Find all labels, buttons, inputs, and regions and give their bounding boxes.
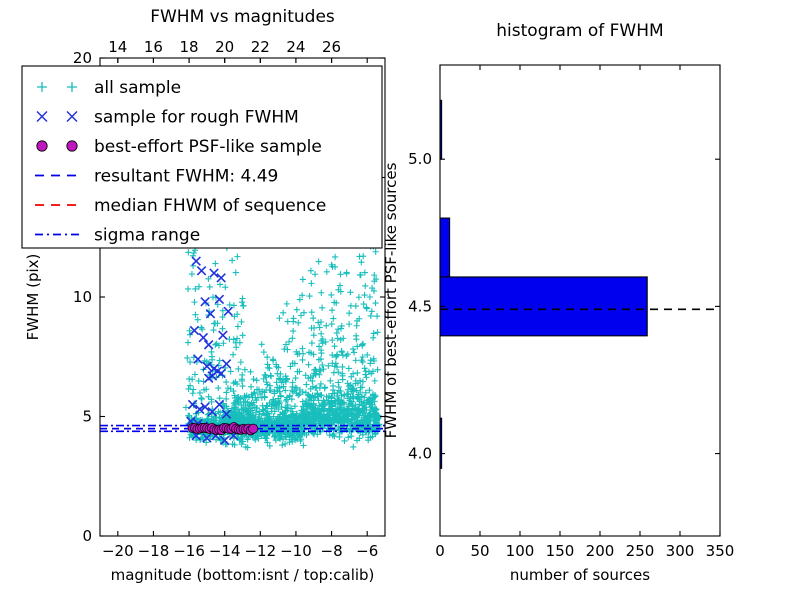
right-xtick-label: 150 — [546, 542, 575, 560]
legend-item-label: sample for rough FWHM — [94, 108, 299, 128]
legend-box — [22, 66, 382, 248]
right-xtick-label: 200 — [586, 542, 615, 560]
left-xtick-label: −10 — [280, 542, 312, 560]
right-xtick-label: 100 — [506, 542, 535, 560]
hist-data-layer — [440, 100, 720, 468]
right-ytick-label: 5.0 — [408, 150, 432, 168]
right-xtick-label: 0 — [435, 542, 445, 560]
left-ytick-label: 5 — [82, 408, 92, 426]
legend-item-label: all sample — [94, 78, 181, 98]
psf-sample-dot — [249, 424, 258, 433]
left-yaxis-label: FWHM (pix) — [24, 254, 42, 341]
matplotlib-figure: −20−18−16−14−12−10−8−6051020141618202224… — [0, 0, 800, 600]
left-xtick-label: −14 — [209, 542, 241, 560]
right-yaxis-label: FWHM of best-effort PSF-like sources — [382, 162, 400, 438]
left-xaxis-label: magnitude (bottom:isnt / top:calib) — [111, 566, 375, 584]
left-xtick-label: −20 — [102, 542, 134, 560]
figure-canvas: −20−18−16−14−12−10−8−6051020141618202224… — [0, 0, 800, 600]
right-ytick-label: 4.0 — [408, 445, 432, 463]
left-ytick-label: 0 — [82, 527, 92, 545]
right-panel-histogram: 0501001502002503003504.04.55.0histogram … — [382, 21, 734, 584]
left-xtick-label: −12 — [244, 542, 276, 560]
legend: all samplesample for rough FWHMbest-effo… — [22, 66, 382, 248]
circle-icon — [67, 141, 77, 151]
histogram-bar — [440, 277, 647, 336]
left-top-xtick-label: 24 — [286, 38, 305, 56]
left-xtick-label: −8 — [321, 542, 343, 560]
left-xtick-label: −6 — [356, 542, 378, 560]
legend-item-label: best-effort PSF-like sample — [94, 137, 322, 157]
circle-icon — [37, 141, 47, 151]
left-ytick-label: 10 — [73, 288, 92, 306]
left-top-xtick-label: 14 — [108, 38, 127, 56]
legend-item-label: median FHWM of sequence — [94, 196, 326, 216]
left-top-xtick-label: 22 — [251, 38, 270, 56]
right-xtick-label: 250 — [626, 542, 655, 560]
left-xtick-label: −16 — [173, 542, 205, 560]
left-ytick-label: 20 — [73, 49, 92, 67]
left-top-xtick-label: 16 — [144, 38, 163, 56]
legend-item-label: sigma range — [94, 226, 200, 246]
left-xtick-label: −18 — [138, 542, 170, 560]
right-xtick-label: 350 — [706, 542, 735, 560]
right-ytick-label: 4.5 — [408, 297, 432, 315]
left-top-xtick-label: 20 — [215, 38, 234, 56]
right-xtick-label: 300 — [666, 542, 695, 560]
left-panel-title: FWHM vs magnitudes — [150, 7, 335, 27]
left-top-xtick-label: 26 — [322, 38, 341, 56]
right-panel-title: histogram of FWHM — [496, 21, 663, 41]
right-xaxis-label: number of sources — [510, 566, 650, 584]
legend-item-label: resultant FWHM: 4.49 — [94, 167, 278, 187]
right-xtick-label: 50 — [470, 542, 489, 560]
histogram-bar — [440, 218, 450, 277]
left-top-xtick-label: 18 — [180, 38, 199, 56]
